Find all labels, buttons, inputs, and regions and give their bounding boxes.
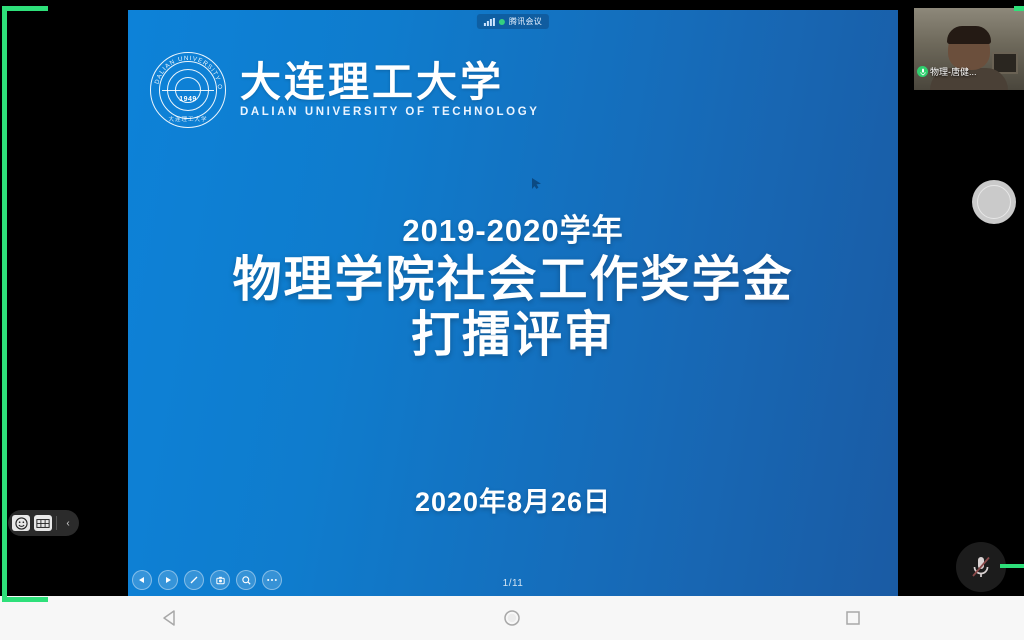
left-mini-toolbar[interactable]: ‹ — [8, 510, 79, 536]
participant-video-tile[interactable]: 物理-唐健... — [914, 8, 1024, 90]
back-triangle-icon[interactable] — [143, 596, 199, 640]
participant-name-badge: 物理-唐健... — [917, 65, 977, 78]
slide-toolbar[interactable] — [132, 570, 282, 590]
chevron-left-icon[interactable]: ‹ — [61, 518, 75, 529]
page-indicator: 1/11 — [503, 578, 524, 589]
mic-on-icon — [917, 66, 928, 77]
signal-bars-icon — [484, 18, 495, 26]
university-logo: DALIAN UNIVERSITY OF TECHNOLOGY 1949 大连理… — [150, 52, 540, 128]
keyboard-icon[interactable] — [34, 515, 52, 531]
more-button[interactable] — [262, 570, 282, 590]
android-nav-bar[interactable] — [0, 596, 1024, 640]
previous-slide-button[interactable] — [132, 570, 152, 590]
phone-screen: 腾讯会议 DALIAN UNIVERSITY OF TECHNOLOGY 194… — [0, 0, 1024, 640]
university-en-name: DALIAN UNIVERSITY OF TECHNOLOGY — [240, 106, 540, 118]
meeting-app-label: 腾讯会议 — [509, 16, 542, 27]
participant-name: 物理-唐健... — [930, 65, 977, 78]
play-button[interactable] — [158, 570, 178, 590]
toolbar-divider — [56, 516, 57, 530]
recording-border-left-edge — [2, 46, 7, 556]
slide-title-block: 2019-2020学年 物理学院社会工作奖学金 打擂评审 — [128, 205, 898, 362]
shared-slide-view[interactable]: 腾讯会议 DALIAN UNIVERSITY OF TECHNOLOGY 194… — [128, 10, 898, 596]
recording-border-corner-top-left — [2, 6, 48, 52]
seal-cn-sub: 大连理工大学 — [150, 115, 226, 123]
zoom-button[interactable] — [236, 570, 256, 590]
home-circle-icon[interactable] — [484, 596, 540, 640]
university-cn-name: 大连理工大学 — [240, 62, 540, 103]
video-person-hair — [947, 26, 991, 44]
mic-muted-icon[interactable] — [956, 542, 1006, 592]
title-main-line: 物理学院社会工作奖学金 — [128, 252, 898, 307]
university-seal-icon: DALIAN UNIVERSITY OF TECHNOLOGY 1949 大连理… — [150, 52, 226, 128]
title-year-line: 2019-2020学年 — [128, 205, 898, 250]
recording-border-right-bottom — [1000, 564, 1024, 568]
assistive-touch-icon[interactable] — [972, 180, 1016, 224]
meeting-status-pill: 腾讯会议 — [477, 14, 549, 29]
mouse-cursor — [532, 178, 541, 189]
seal-year: 1949 — [150, 96, 226, 103]
annotate-button[interactable] — [184, 570, 204, 590]
recents-square-icon[interactable] — [825, 596, 881, 640]
title-sub-line: 打擂评审 — [128, 307, 898, 362]
svg-text:DALIAN UNIVERSITY OF TECHNOLOG: DALIAN UNIVERSITY OF TECHNOLOGY — [150, 52, 223, 90]
emoji-face-icon[interactable] — [12, 515, 30, 531]
recording-border-right-top — [1014, 6, 1024, 11]
green-dot-icon — [499, 19, 505, 25]
slide-date: 2020年8月26日 — [128, 480, 898, 519]
laser-pointer-button[interactable] — [210, 570, 230, 590]
